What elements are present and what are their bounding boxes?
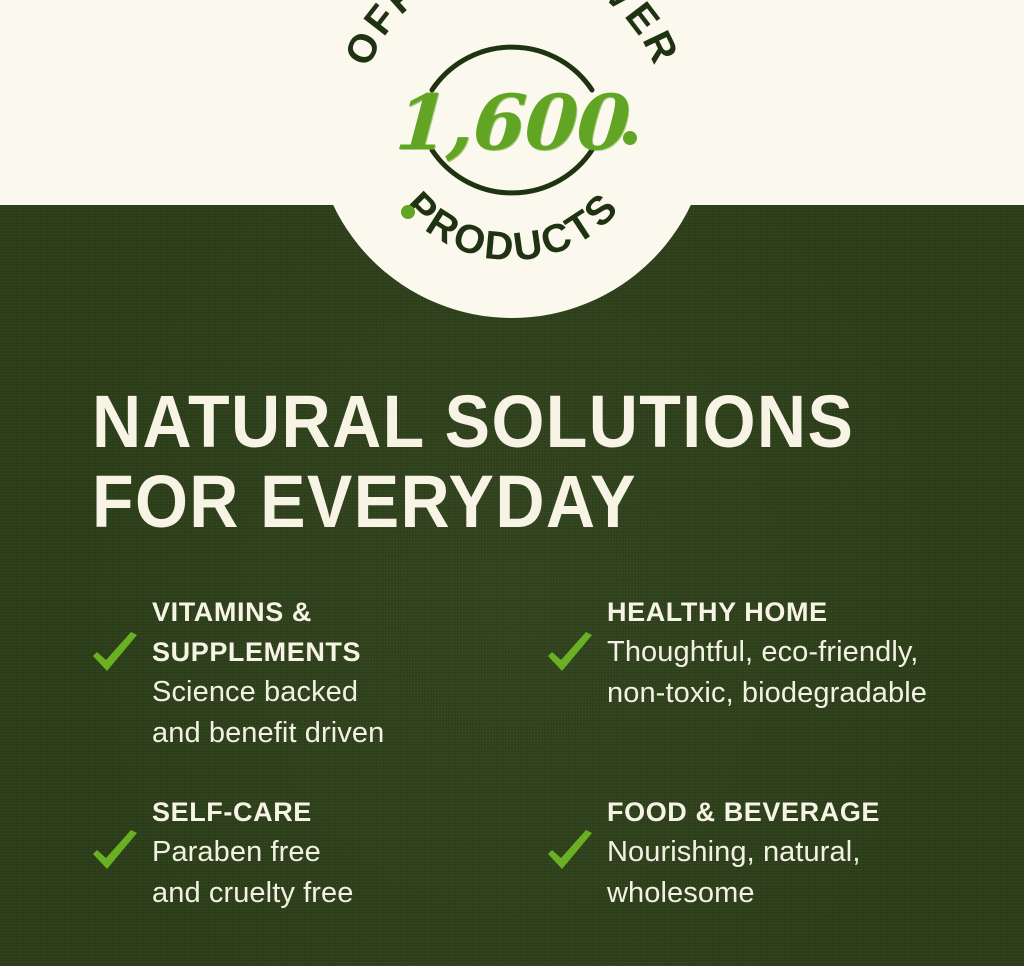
feature-description: Thoughtful, eco-friendly, non-toxic, bio… (607, 632, 986, 714)
check-icon (90, 632, 140, 678)
badge-number: 1,600 (392, 78, 631, 167)
check-icon (545, 632, 595, 678)
feature-item-self-care: SELF-CARE Paraben free and cruelty free (86, 792, 541, 914)
feature-title: HEALTHY HOME (607, 592, 986, 632)
feature-item-healthy-home: HEALTHY HOME Thoughtful, eco-friendly, n… (541, 592, 986, 792)
page-title: NATURAL SOLUTIONS FOR EVERYDAY (92, 382, 902, 542)
feature-item-vitamins-supplements: VITAMINS & SUPPLEMENTS Science backed an… (86, 592, 541, 792)
feature-item-food-beverage: FOOD & BEVERAGE Nourishing, natural, who… (541, 792, 986, 914)
offering-badge: OFFERING OVER PRODUCTS 1,600 (314, 0, 710, 318)
check-icon (90, 830, 140, 876)
feature-description: Nourishing, natural, wholesome (607, 832, 986, 914)
feature-title: FOOD & BEVERAGE (607, 792, 986, 832)
promo-banner: OFFERING OVER PRODUCTS 1,600 NATURAL SOL… (0, 0, 1024, 966)
feature-grid: VITAMINS & SUPPLEMENTS Science backed an… (86, 592, 986, 914)
check-icon (545, 830, 595, 876)
feature-title: VITAMINS & SUPPLEMENTS (152, 592, 541, 672)
feature-title: SELF-CARE (152, 792, 541, 832)
feature-description: Paraben free and cruelty free (152, 832, 541, 914)
feature-description: Science backed and benefit driven (152, 672, 541, 754)
badge-number-wrap: 1,600 (314, 0, 710, 318)
